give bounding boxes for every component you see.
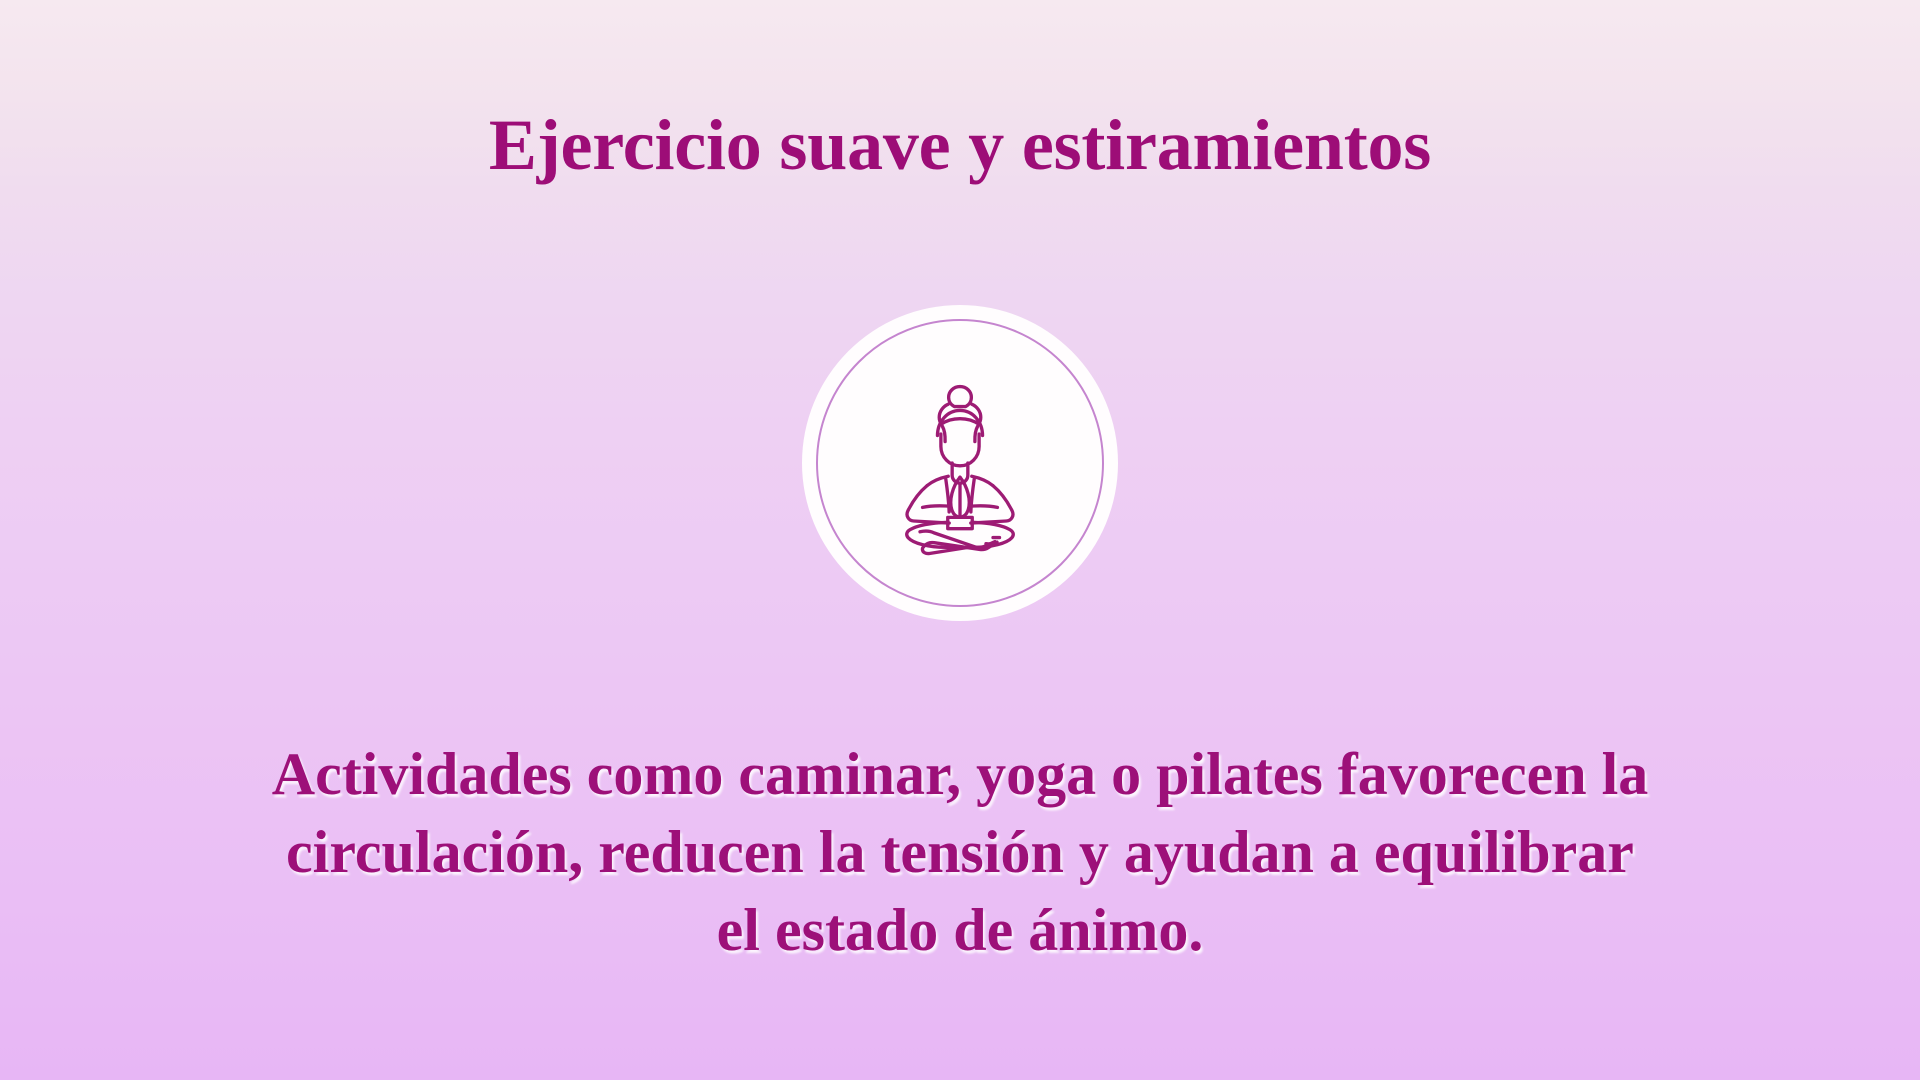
yoga-icon-badge xyxy=(802,305,1118,621)
body-paragraph: Actividades como caminar, yoga o pilates… xyxy=(140,735,1780,969)
page-title: Ejercicio suave y estiramientos xyxy=(0,104,1920,186)
yoga-meditation-icon xyxy=(862,365,1058,561)
slide-canvas: Ejercicio suave y estiramientos xyxy=(0,0,1920,1080)
body-line-1: Actividades como caminar, yoga o pilates… xyxy=(140,735,1780,813)
body-line-2: circulación, reducen la tensión y ayudan… xyxy=(140,813,1780,891)
body-line-3: el estado de ánimo. xyxy=(140,891,1780,969)
